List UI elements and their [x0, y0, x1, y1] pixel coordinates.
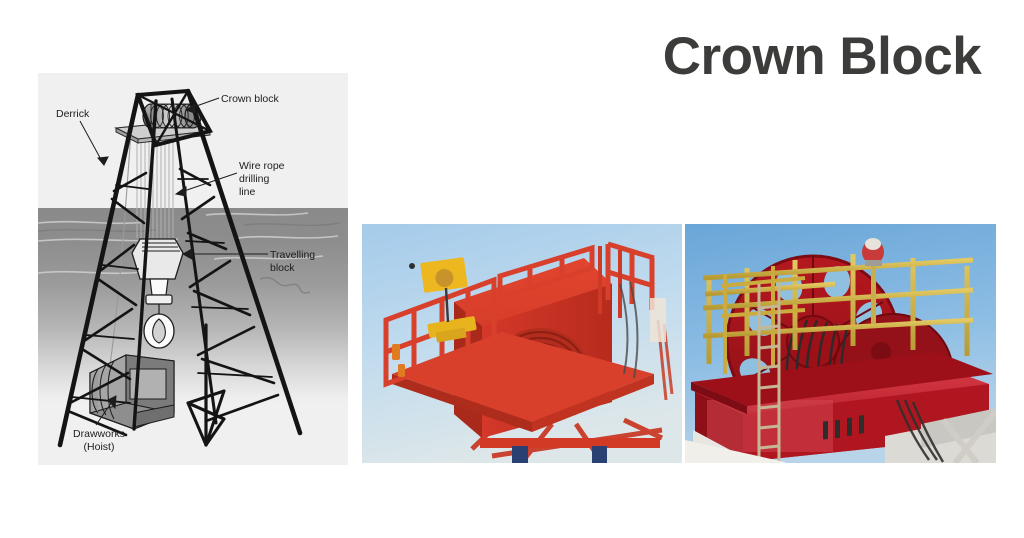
label-drawworks: Drawworks (Hoist): [51, 428, 147, 454]
label-wire-rope-drilling-line: Wire rope drilling line: [239, 160, 303, 199]
label-crown-block: Crown block: [221, 93, 279, 106]
photo-left-artwork: [362, 224, 682, 463]
label-wire-rope-line-3: line: [239, 186, 255, 198]
label-drawworks-line-1: Drawworks: [73, 428, 125, 440]
page-title: Crown Block: [652, 24, 992, 90]
label-derrick: Derrick: [56, 108, 89, 121]
drawworks-graphic: [90, 355, 174, 429]
rig-diagram-panel: Derrick Crown block Wire rope drilling l…: [38, 73, 348, 465]
label-wire-rope-line-1: Wire rope: [239, 160, 285, 172]
label-travelling-block-line-2: block: [270, 262, 295, 274]
slide-root: Crown Block: [0, 0, 1024, 538]
photo-row: [362, 224, 996, 463]
label-travelling-block: Travelling block: [270, 249, 332, 275]
photo-crown-block-red: [362, 224, 682, 463]
photo-right-artwork: [685, 224, 996, 463]
label-travelling-block-line-1: Travelling: [270, 249, 315, 261]
label-drawworks-line-2: (Hoist): [84, 441, 115, 453]
label-wire-rope-line-2: drilling: [239, 173, 269, 185]
photo-crown-block-dark-red: [685, 224, 996, 463]
